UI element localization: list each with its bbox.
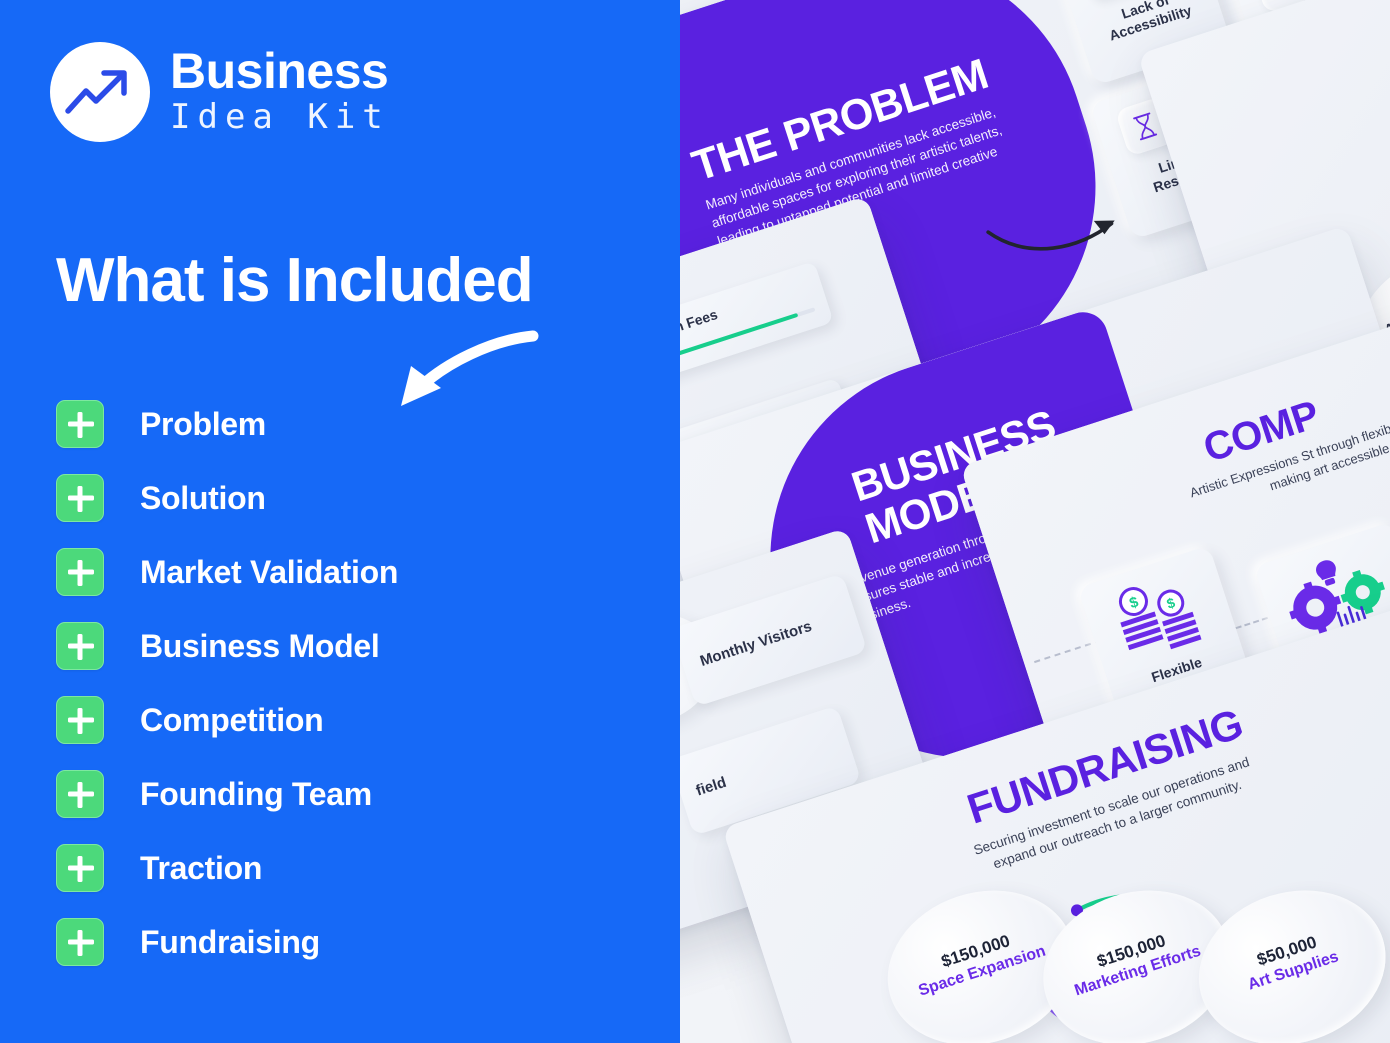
included-features-list: Problem Solution Market Validation Busin… bbox=[56, 387, 616, 979]
plus-icon bbox=[56, 400, 104, 448]
feature-label: Founding Team bbox=[140, 776, 372, 813]
feature-item-solution[interactable]: Solution bbox=[56, 461, 616, 535]
feature-item-fundraising[interactable]: Fundraising bbox=[56, 905, 616, 979]
feature-item-traction[interactable]: Traction bbox=[56, 831, 616, 905]
feature-label: Traction bbox=[140, 850, 262, 887]
feature-label: Market Validation bbox=[140, 554, 398, 591]
feature-label: Solution bbox=[140, 480, 266, 517]
brand-title: Business bbox=[170, 46, 390, 96]
feature-item-competition[interactable]: Competition bbox=[56, 683, 616, 757]
slides-mockup-area: THE PROBLEM Many individuals and communi… bbox=[640, 0, 1390, 1043]
plus-icon bbox=[56, 474, 104, 522]
brand-subtitle: Idea Kit bbox=[170, 96, 390, 139]
left-info-panel: Business Idea Kit What is Included Probl… bbox=[0, 0, 680, 1043]
feature-label: Fundraising bbox=[140, 924, 320, 961]
feature-item-founding-team[interactable]: Founding Team bbox=[56, 757, 616, 831]
feature-label: Problem bbox=[140, 406, 266, 443]
plus-icon bbox=[56, 918, 104, 966]
plus-icon bbox=[56, 770, 104, 818]
feature-label: Competition bbox=[140, 702, 323, 739]
growth-chart-circle-icon bbox=[50, 42, 150, 142]
plus-icon bbox=[56, 844, 104, 892]
feature-item-business-model[interactable]: Business Model bbox=[56, 609, 616, 683]
presentation-preview-banner: THE PROBLEM Many individuals and communi… bbox=[0, 0, 1390, 1043]
feature-item-problem[interactable]: Problem bbox=[56, 387, 616, 461]
feature-label: Business Model bbox=[140, 628, 379, 665]
plus-icon bbox=[56, 622, 104, 670]
plus-icon bbox=[56, 548, 104, 596]
brand-wordmark: Business Idea Kit bbox=[170, 46, 390, 139]
plus-icon bbox=[56, 696, 104, 744]
competition-connector-left bbox=[1034, 640, 1101, 664]
feature-item-market-validation[interactable]: Market Validation bbox=[56, 535, 616, 609]
page-title: What is Included bbox=[56, 248, 533, 313]
brand-logo: Business Idea Kit bbox=[50, 42, 390, 142]
